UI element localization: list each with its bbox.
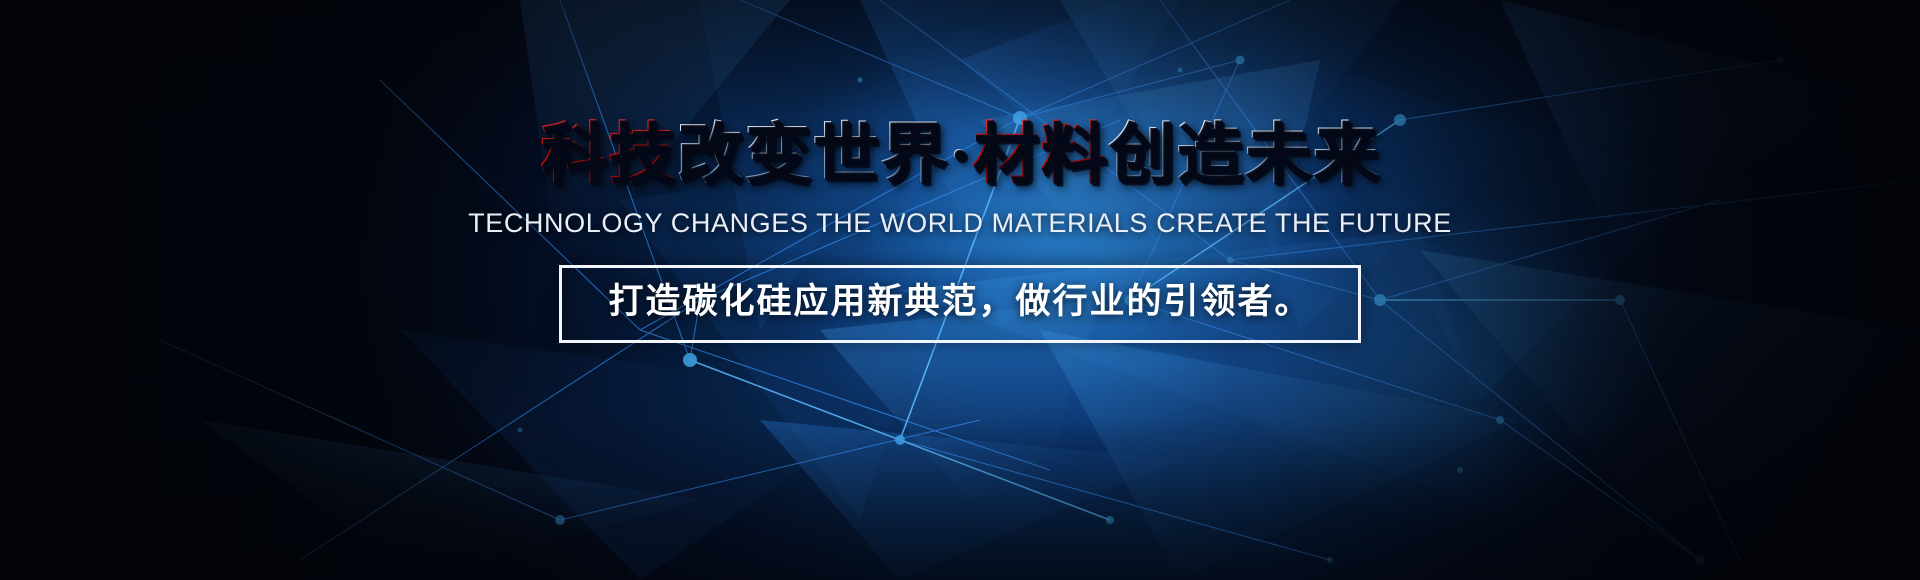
headline-segment-4: 创造未来: [1108, 118, 1380, 191]
slogan-box: 打造碳化硅应用新典范，做行业的引领者。: [559, 265, 1360, 343]
subheadline: TECHNOLOGY CHANGES THE WORLD MATERIALS C…: [468, 208, 1452, 239]
slogan-text: 打造碳化硅应用新典范，做行业的引领者。: [608, 282, 1311, 322]
page-title: 科技改变世界·材料创造未来: [540, 122, 1380, 188]
headline-segment-3: 材料: [972, 118, 1108, 191]
headline-segment-2: 改变世界·: [676, 118, 972, 191]
hero-banner: 科技改变世界·材料创造未来 TECHNOLOGY CHANGES THE WOR…: [0, 0, 1920, 580]
headline-segment-1: 科技: [540, 118, 676, 191]
banner-content: 科技改变世界·材料创造未来 TECHNOLOGY CHANGES THE WOR…: [0, 0, 1920, 580]
